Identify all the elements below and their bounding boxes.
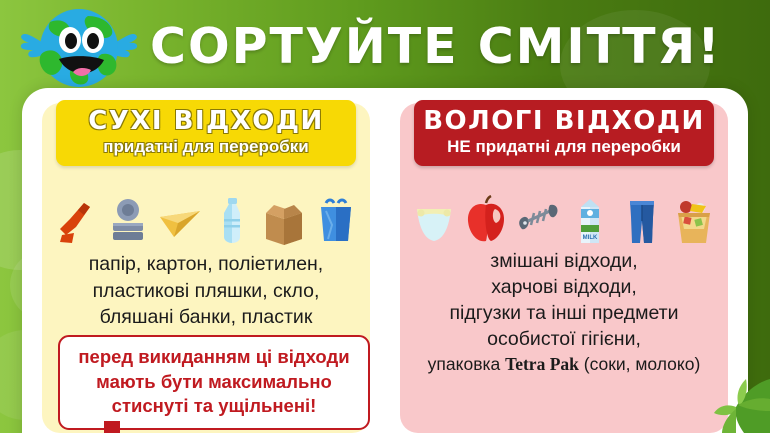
dry-waste-callout: перед викиданням ці відходи мають бути м…: [58, 335, 370, 430]
poster-root: СОРТУЙТЕ СМІТТЯ! СУХІ ВІДХОДИ придатні д…: [0, 0, 770, 433]
page-title: СОРТУЙТЕ СМІТТЯ!: [150, 10, 760, 82]
tin-cans-icon: [106, 195, 150, 247]
wet-icon-row: MILK: [400, 189, 728, 247]
cardboard-box-icon: [262, 195, 306, 247]
tetra-pak-line: упаковка Tetra Pak (соки, молоко): [408, 353, 720, 376]
content-card: СУХІ ВІДХОДИ придатні для переробки: [22, 88, 748, 433]
milk-carton-icon: MILK: [568, 195, 612, 247]
callout-line: стиснуті та ущільнені!: [66, 394, 362, 419]
wet-waste-description: змішані відходи, харчові відходи, підгуз…: [408, 249, 720, 376]
paper-plane-icon: [158, 195, 202, 247]
tetra-suffix: (соки, молоко): [579, 354, 700, 374]
dry-icon-row: [42, 189, 370, 247]
broken-glass-bottle-icon: [54, 195, 98, 247]
dry-waste-description: папір, картон, поліетилен, пластикові пл…: [50, 251, 362, 331]
dry-banner-subtitle: придатні для переробки: [56, 138, 356, 157]
wet-line: підгузки та інші предмети: [408, 301, 720, 327]
wet-banner-subtitle: НЕ придатні для переробки: [414, 138, 714, 157]
wet-waste-panel: ВОЛОГІ ВІДХОДИ НЕ придатні для переробки: [400, 103, 728, 433]
dry-waste-panel: СУХІ ВІДХОДИ придатні для переробки: [42, 103, 370, 433]
green-leaf-icon: [692, 367, 770, 433]
bitten-apple-icon: [464, 195, 508, 247]
tetra-prefix: упаковка: [428, 354, 505, 374]
wet-banner-title: ВОЛОГІ ВІДХОДИ: [414, 108, 714, 135]
wet-waste-banner: ВОЛОГІ ВІДХОДИ НЕ придатні для переробки: [414, 100, 714, 166]
wet-line: харчові відходи,: [408, 275, 720, 301]
dry-banner-title: СУХІ ВІДХОДИ: [56, 108, 356, 135]
milk-label: MILK: [583, 235, 598, 241]
plastic-bag-icon: [314, 195, 358, 247]
full-trash-basket-icon: [672, 195, 716, 247]
jeans-icon: [620, 195, 664, 247]
wet-line: особистої гігієни,: [408, 327, 720, 353]
bottom-cut-marker: [104, 421, 120, 433]
tetra-brand: Tetra Pak: [505, 354, 579, 374]
earth-mascot-icon: [18, 2, 140, 94]
dry-line: бляшані банки, пластик: [50, 304, 362, 331]
dry-line: пластикові пляшки, скло,: [50, 278, 362, 305]
fish-bone-icon: [516, 195, 560, 247]
wet-line: змішані відходи,: [408, 249, 720, 275]
dry-waste-banner: СУХІ ВІДХОДИ придатні для переробки: [56, 100, 356, 166]
plastic-bottle-icon: [210, 195, 254, 247]
callout-line: мають бути максимально: [66, 370, 362, 395]
poster-header: СОРТУЙТЕ СМІТТЯ!: [0, 0, 770, 92]
callout-line: перед викиданням ці відходи: [66, 345, 362, 370]
dry-line: папір, картон, поліетилен,: [50, 251, 362, 278]
diaper-icon: [412, 195, 456, 247]
